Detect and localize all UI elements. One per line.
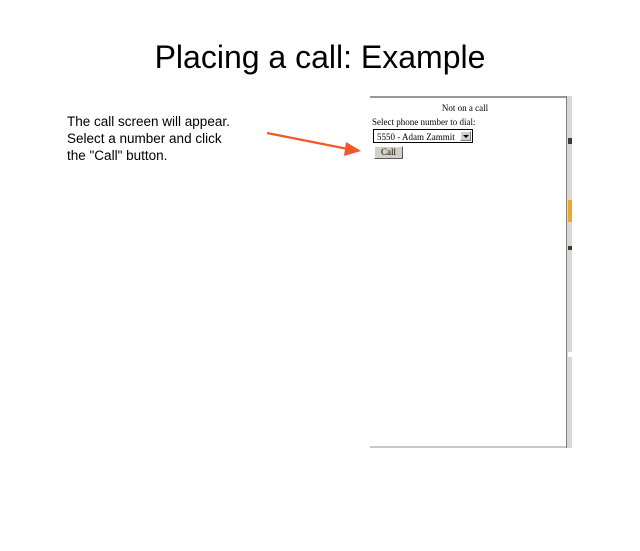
call-button[interactable]: Call (374, 146, 403, 159)
page-title: Placing a call: Example (0, 38, 640, 76)
scrollbar-mark (568, 138, 572, 144)
body-text-line: The call screen will appear. (67, 113, 277, 130)
scrollbar-mark (568, 246, 572, 250)
arrow-right-icon (258, 120, 368, 165)
window-bottom-border (370, 446, 566, 448)
scrollbar-thumb[interactable] (568, 200, 572, 222)
scrollbar-mark (568, 352, 572, 357)
chevron-down-glyph (463, 135, 469, 138)
call-app-window: Not on a call Select phone number to dia… (370, 96, 572, 448)
presentation-slide: Placing a call: Example The call screen … (0, 0, 640, 480)
phone-select-value: 5550 - Adam Zammit (377, 131, 455, 143)
call-app-screenshot: Not on a call Select phone number to dia… (370, 96, 572, 448)
chevron-down-icon[interactable] (460, 131, 471, 141)
call-app-content: Not on a call Select phone number to dia… (370, 98, 566, 446)
status-badge: Not on a call (370, 103, 560, 113)
scrollbar-vertical[interactable] (566, 96, 572, 448)
phone-select-label: Select phone number to dial: (372, 117, 475, 127)
body-text-line: the "Call" button. (67, 147, 277, 164)
slide-body-text: The call screen will appear. Select a nu… (67, 113, 277, 164)
body-text-line: Select a number and click (67, 130, 277, 147)
phone-number-select[interactable]: 5550 - Adam Zammit (373, 129, 473, 143)
